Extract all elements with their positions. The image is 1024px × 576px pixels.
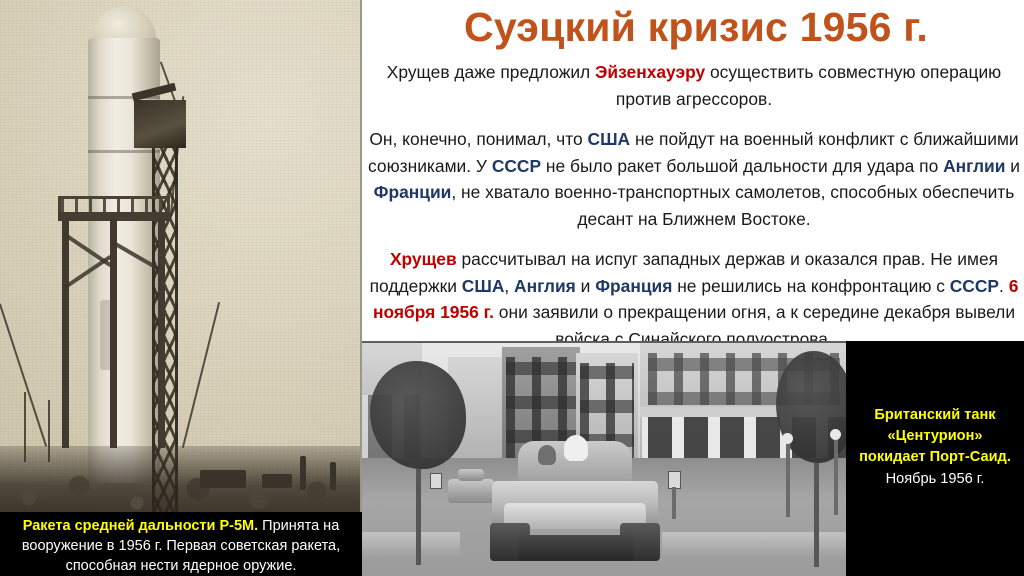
rocket-launch-photo bbox=[0, 0, 362, 576]
p2-text-c: не было ракет большой дальности для удар… bbox=[541, 156, 943, 176]
lamp-head bbox=[830, 429, 841, 440]
presentation-slide: Ракета средней дальности Р-5М. Принята н… bbox=[0, 0, 1024, 576]
p3-text-d: не решились на конфронтацию с bbox=[672, 276, 949, 296]
p3-emphasis-france: Франция bbox=[595, 276, 672, 296]
rocket-photo-caption: Ракета средней дальности Р-5М. Принята н… bbox=[0, 512, 362, 576]
p3-emphasis-khrushchev: Хрущев bbox=[390, 249, 457, 269]
tank-caption-line-2: «Центурион» bbox=[848, 426, 1022, 447]
street-sign bbox=[430, 473, 442, 489]
pad-mast-small bbox=[300, 456, 306, 490]
rocket-ring bbox=[88, 150, 160, 153]
p3-emphasis-usa: США bbox=[462, 276, 505, 296]
tank-caption-line-1: Британский танк bbox=[848, 405, 1022, 426]
paragraph-3: Хрущев рассчитывал на испуг западных дер… bbox=[368, 246, 1020, 352]
p3-emphasis-ussr: СССР bbox=[950, 276, 999, 296]
distant-tank-turret bbox=[458, 469, 484, 481]
pad-vehicle bbox=[200, 470, 246, 488]
paragraph-1: Хрущев даже предложил Эйзенхауэру осущес… bbox=[368, 59, 1020, 112]
p2-text-a: Он, конечно, понимал, что bbox=[369, 129, 587, 149]
rocket-caption-highlight: Ракета средней дальности Р-5М. bbox=[23, 518, 258, 534]
p3-text-b: , bbox=[504, 276, 514, 296]
p3-text-c: и bbox=[576, 276, 595, 296]
tree-trunk bbox=[814, 463, 819, 567]
p2-emphasis-usa: США bbox=[588, 129, 631, 149]
tree-foliage bbox=[370, 361, 466, 469]
sidewalk-left bbox=[362, 532, 460, 558]
lamp-post bbox=[834, 435, 838, 515]
distant-tank bbox=[448, 479, 494, 503]
p2-emphasis-ussr: СССР bbox=[492, 156, 541, 176]
slide-title: Суэцкий кризис 1956 г. bbox=[368, 2, 1024, 52]
tank-caption-line-3: покидает Порт-Саид. bbox=[848, 447, 1022, 468]
centurion-tank bbox=[490, 441, 662, 561]
centurion-tank-photo bbox=[362, 341, 846, 576]
tank-photo-caption: Британский танк «Центурион» покидает Пор… bbox=[846, 341, 1024, 576]
tank-caption-date: Ноябрь 1956 г. bbox=[848, 469, 1022, 490]
pad-antenna bbox=[24, 392, 26, 462]
slide-body-text: Хрущев даже предложил Эйзенхауэру осущес… bbox=[368, 59, 1020, 352]
gantry-head-platform bbox=[134, 100, 186, 148]
platform-support-leg bbox=[158, 218, 165, 448]
p1-emphasis-eisenhower: Эйзенхауэру bbox=[595, 62, 705, 82]
p2-emphasis-france: Франции bbox=[374, 182, 452, 202]
p3-text-e: . bbox=[999, 276, 1009, 296]
lamp-head bbox=[782, 433, 793, 444]
p3-emphasis-england: Англия bbox=[514, 276, 576, 296]
p1-text-a: Хрущев даже предложил bbox=[387, 62, 595, 82]
paragraph-2: Он, конечно, понимал, что США не пойдут … bbox=[368, 126, 1020, 232]
tank-lower-hull bbox=[518, 535, 634, 561]
lamp-post bbox=[786, 439, 790, 517]
pad-vehicle bbox=[262, 474, 292, 488]
p2-text-d: и bbox=[1005, 156, 1020, 176]
sign-post bbox=[672, 487, 676, 519]
platform-support-leg bbox=[110, 218, 117, 448]
pad-mast-small bbox=[330, 462, 336, 490]
tank-crew-member bbox=[564, 435, 588, 461]
p2-emphasis-england: Англии bbox=[943, 156, 1005, 176]
pad-antenna bbox=[48, 400, 50, 462]
tree-trunk bbox=[416, 469, 421, 565]
platform-support-leg bbox=[62, 218, 69, 448]
tank-crew-member bbox=[538, 445, 556, 465]
p2-text-e: , не хватало военно-транспортных самолет… bbox=[451, 182, 1014, 229]
